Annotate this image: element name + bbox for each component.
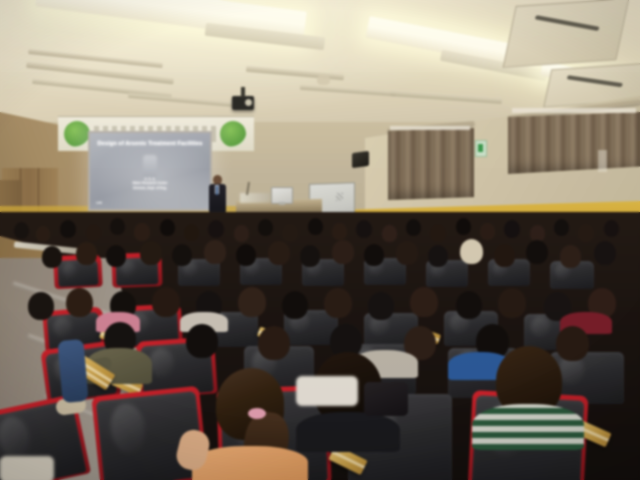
desk-monitor	[271, 187, 293, 204]
audience-head	[308, 218, 323, 235]
banner-emblem-icon	[220, 121, 246, 147]
audience-head	[152, 287, 180, 317]
slide-subtitle-line-3: Division, Dept. of Eng.	[90, 186, 210, 190]
audience-head	[42, 246, 62, 268]
audience-head	[554, 219, 569, 236]
projection-screen: Design of Arsenic Treatment Facilities U…	[88, 131, 212, 211]
audience-head	[460, 239, 483, 264]
presenter-tie	[216, 186, 218, 195]
slide-title: Design of Arsenic Treatment Facilities	[95, 141, 205, 147]
audience-row-5-foreground	[0, 380, 640, 480]
handbag	[364, 382, 408, 416]
audience-head	[110, 218, 125, 235]
audience-head	[106, 245, 126, 267]
projector-lens	[245, 99, 252, 106]
audience-head	[560, 245, 581, 268]
audience-head	[396, 241, 418, 265]
audience-head	[28, 292, 54, 320]
window-curtain	[508, 112, 640, 174]
window-light-gap	[598, 150, 607, 172]
audience-head	[364, 244, 384, 266]
ac-vent-icon	[503, 0, 630, 68]
audience-head	[76, 242, 97, 265]
audience-head	[456, 218, 471, 235]
lecture-hall-photo: Design of Arsenic Treatment Facilities U…	[0, 0, 640, 480]
slide-figure-image	[143, 155, 157, 179]
ceiling-projector	[232, 96, 254, 110]
audience-top	[296, 412, 400, 452]
banner-emblem-icon	[64, 121, 90, 147]
audience-head	[368, 292, 394, 320]
desk-items	[240, 193, 270, 203]
audience-plaid-shirt	[472, 404, 584, 450]
audience-head	[258, 326, 290, 360]
audience-head	[594, 241, 616, 265]
audience-head	[324, 288, 352, 318]
audience-head	[66, 288, 93, 317]
slide-logo: UM	[96, 200, 102, 205]
audience-head	[172, 244, 192, 266]
audience-head	[498, 288, 526, 318]
audience-head	[268, 241, 290, 265]
audience-head	[204, 240, 226, 264]
window-light-gap	[390, 126, 470, 130]
window-curtain	[388, 128, 474, 200]
audience-head	[300, 245, 320, 267]
audience-head	[526, 240, 548, 264]
audience-head	[236, 244, 256, 266]
audience-top	[192, 446, 308, 480]
audience-head	[428, 245, 448, 267]
audience-head	[238, 287, 266, 317]
white-cloth	[0, 456, 54, 480]
audience-head	[140, 241, 162, 265]
audience-head	[258, 219, 273, 236]
whiteboard-marking	[336, 193, 343, 201]
wall-speaker	[352, 151, 369, 168]
ceiling-mount-bracket	[317, 74, 330, 85]
window-light-gap	[512, 108, 636, 113]
audience-head	[456, 291, 482, 319]
audience-jeans	[57, 339, 88, 403]
audience-head	[406, 219, 421, 236]
vent-slat	[566, 75, 623, 87]
audience-head	[186, 324, 218, 358]
audience-head	[410, 287, 438, 317]
white-cloth	[296, 376, 358, 406]
audience-head	[494, 244, 515, 267]
audience-person	[470, 346, 590, 450]
vent-slat	[534, 15, 599, 31]
projector-mount	[241, 87, 245, 97]
audience-head	[282, 291, 308, 319]
slide-subtitle: U. S. A. Water Research Center Division,…	[90, 177, 210, 190]
projected-slide: Design of Arsenic Treatment Facilities U…	[90, 133, 210, 209]
hair-tie	[248, 408, 266, 419]
exit-sign	[475, 140, 487, 157]
audience-head	[604, 220, 619, 237]
audience-head	[332, 240, 354, 264]
audience-head	[160, 219, 175, 236]
